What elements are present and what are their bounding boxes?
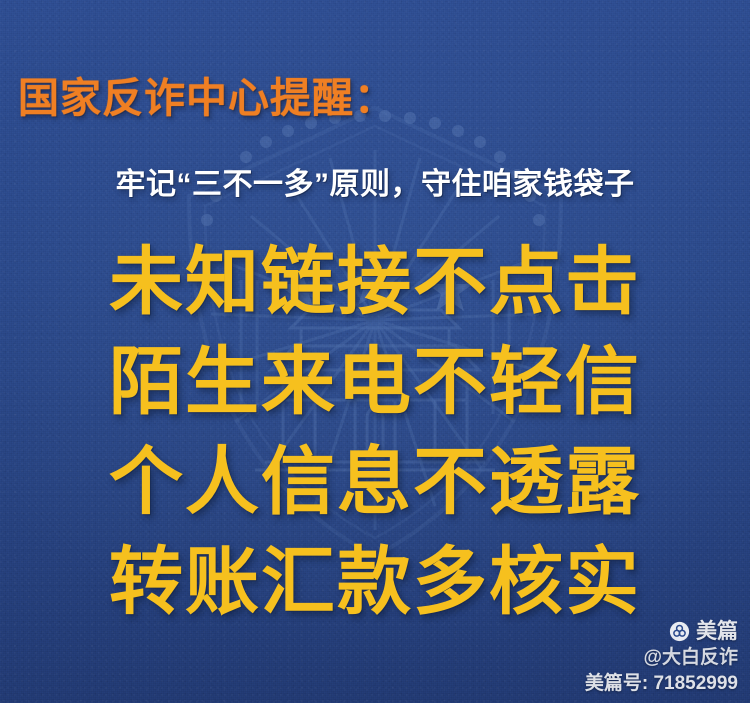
watermark-id: 美篇号: 71852999 [585,673,738,695]
watermark-brand-label: 美篇 [696,620,738,643]
meipian-trefoil-logo-icon [669,621,690,642]
anti-fraud-poster: 国家反诈中心提醒： 牢记“三不一多”原则，守住咱家钱袋子 未知链接不点击 陌生来… [0,0,750,703]
slogan-line-1: 未知链接不点击 [0,232,750,332]
poster-subtitle: 牢记“三不一多”原则，守住咱家钱袋子 [0,170,750,200]
slogan-line-2: 陌生来电不轻信 [0,332,750,432]
watermark-handle: @大白反诈 [585,647,738,669]
watermark-brand-row: 美篇 [585,620,738,643]
slogan-line-3: 个人信息不透露 [0,432,750,532]
page-title: 国家反诈中心提醒： [18,78,396,119]
slogan-list: 未知链接不点击 陌生来电不轻信 个人信息不透露 转账汇款多核实 [0,232,750,632]
slogan-line-4: 转账汇款多核实 [0,532,750,632]
meipian-watermark: 美篇 @大白反诈 美篇号: 71852999 [585,620,738,695]
